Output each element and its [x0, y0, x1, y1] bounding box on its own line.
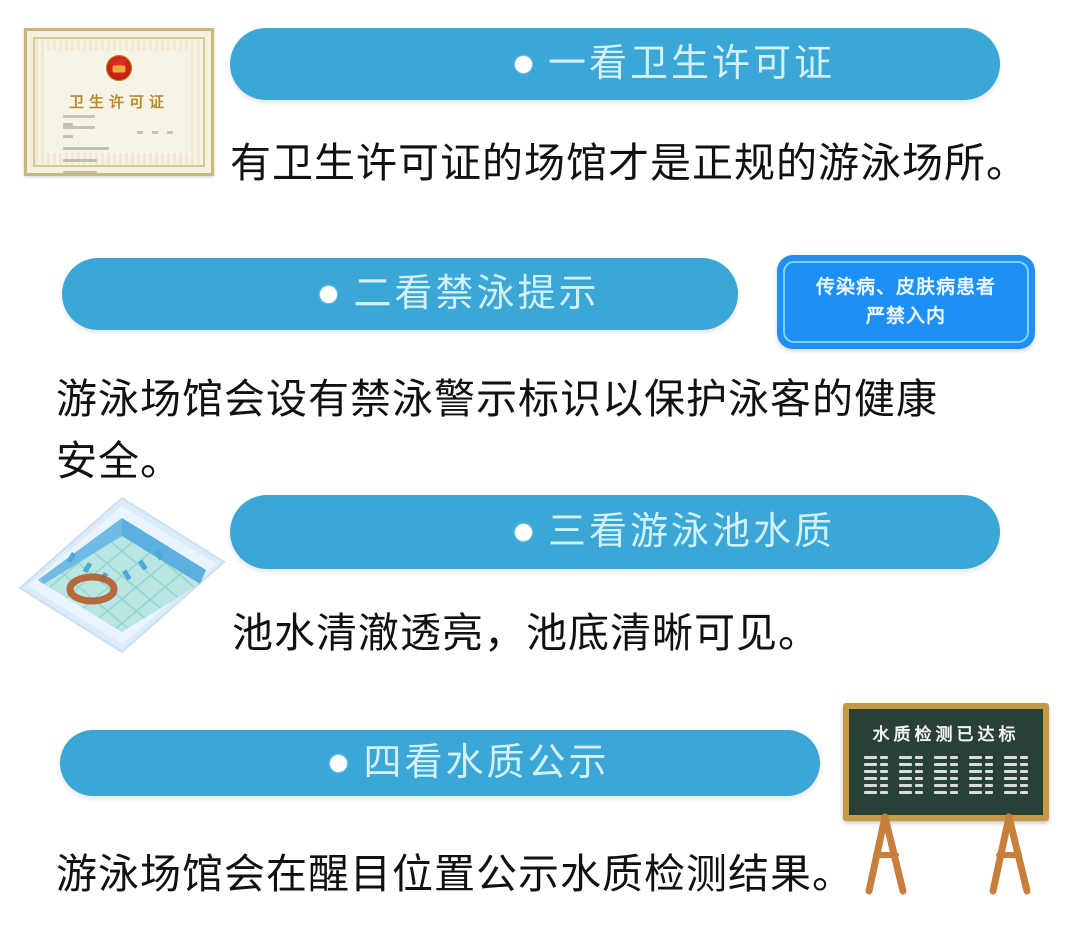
certificate-title: 卫生许可证 — [47, 91, 191, 112]
heading-text-two: 二看禁泳提示 — [353, 275, 599, 313]
section-heading-one[interactable]: 一看卫生许可证 — [230, 28, 1000, 100]
no-swimming-warning-sign: 传染病、皮肤病患者 严禁入内 — [777, 255, 1035, 349]
heading-text-three: 三看游泳池水质 — [548, 513, 835, 551]
bullet-dot-icon — [515, 524, 532, 541]
certificate-footer-fields — [63, 115, 95, 137]
infographic-canvas: 卫生许可证 一看卫生许可证 — [0, 0, 1080, 927]
section-body-two: 游泳场馆会设有禁泳警示标识以保护泳客的健康 安全。 — [56, 368, 1036, 492]
warning-sign-text: 传染病、皮肤病患者 严禁入内 — [816, 273, 996, 331]
bullet-dot-icon — [320, 286, 337, 303]
section-heading-four[interactable]: 四看水质公示 — [60, 730, 820, 796]
heading-text-four: 四看水质公示 — [363, 744, 609, 782]
heading-text-one: 一看卫生许可证 — [548, 45, 835, 83]
section-heading-two[interactable]: 二看禁泳提示 — [62, 258, 738, 330]
certificate-face: 卫生许可证 — [47, 51, 191, 153]
section-body-one: 有卫生许可证的场馆才是正规的游泳场所。 — [230, 132, 1060, 194]
swimming-pool-illustration — [14, 492, 230, 658]
blackboard-title: 水质检测已达标 — [849, 720, 1043, 745]
certificate-date — [137, 131, 173, 134]
bullet-dot-icon — [330, 755, 347, 772]
bullet-dot-icon — [515, 56, 532, 73]
blackboard-text-lines — [849, 756, 1043, 794]
section-body-three: 池水清澈透亮，池底清晰可见。 — [232, 602, 1032, 664]
national-emblem-icon — [106, 55, 132, 81]
section-body-four: 游泳场馆会在醒目位置公示水质检测结果。 — [56, 843, 956, 905]
hygiene-license-certificate: 卫生许可证 — [24, 28, 214, 176]
blackboard-panel: 水质检测已达标 — [843, 703, 1049, 821]
certificate-border: 卫生许可证 — [33, 37, 205, 167]
section-heading-three[interactable]: 三看游泳池水质 — [230, 495, 1000, 569]
